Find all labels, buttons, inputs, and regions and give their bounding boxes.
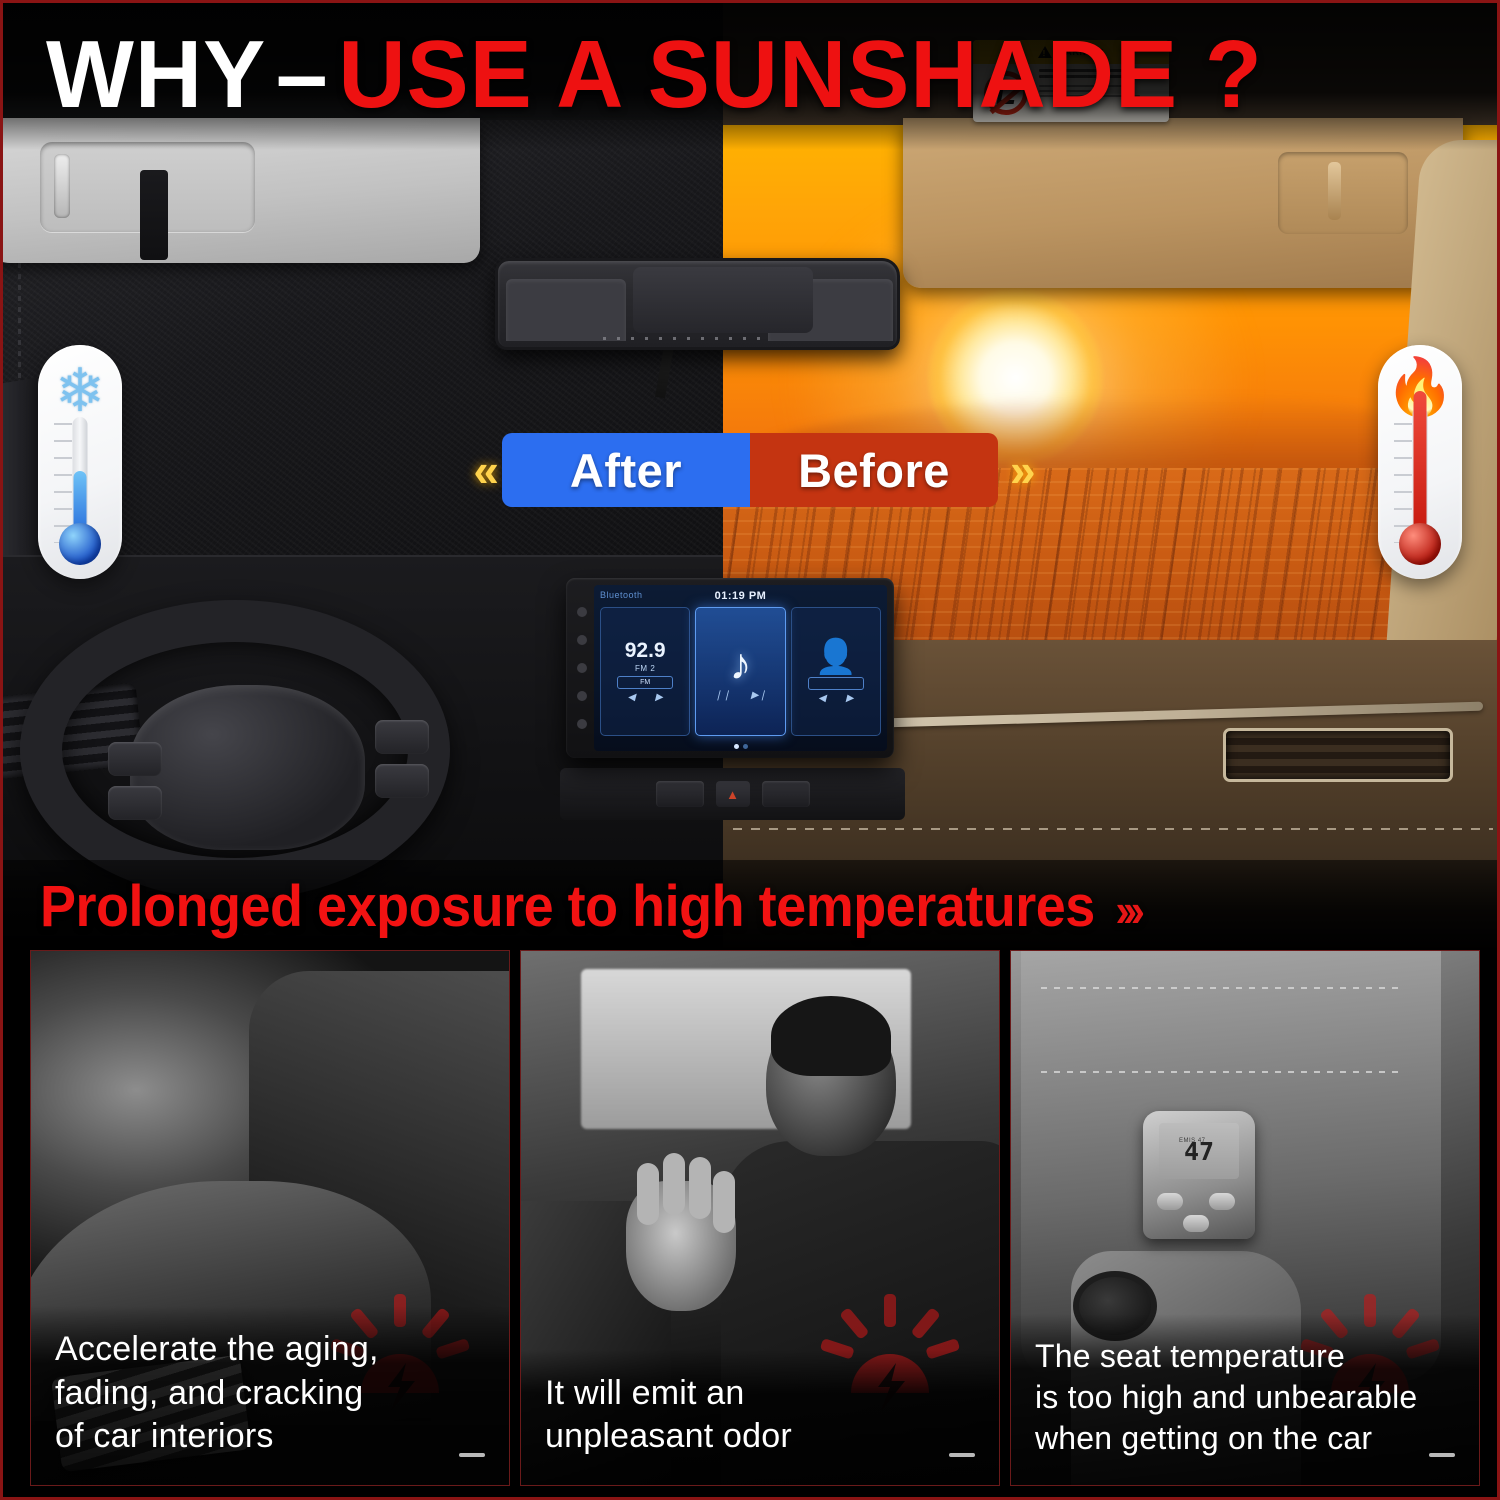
radio-frequency: 92.9 — [625, 640, 666, 661]
section-banner-text: Prolonged exposure to high temperatures›… — [40, 873, 1139, 940]
thermometer-bulb-cold — [59, 523, 101, 565]
product-infographic: WARNING — [0, 0, 1500, 1500]
media-tile[interactable]: ♪ ❘❘ ▶❘ — [695, 607, 785, 736]
ir-button-right — [1209, 1193, 1235, 1210]
center-console-buttons[interactable]: ▲ — [560, 768, 905, 820]
before-badge[interactable]: Before — [750, 433, 998, 507]
phone-nav-controls[interactable]: ◀ ▶ — [818, 693, 853, 704]
phone-prev-icon[interactable]: ◀ — [818, 693, 826, 704]
steering-button-left — [108, 742, 162, 776]
person-hair-p2 — [771, 996, 891, 1076]
title-highlight: USE A SUNSHADE ? — [338, 21, 1262, 128]
steering-button-right — [375, 720, 429, 754]
media-transport-controls[interactable]: ❘❘ ▶❘ — [714, 690, 767, 701]
title-dash: – — [266, 21, 338, 128]
radio-prev-icon[interactable]: ◀ — [627, 692, 635, 703]
volume-button-icon[interactable] — [577, 719, 587, 729]
finger-3 — [689, 1157, 711, 1219]
snowflake-icon: ❄ — [55, 361, 105, 421]
hero-comparison-image: WARNING — [0, 0, 1500, 950]
air-vent-right — [1223, 728, 1453, 782]
ir-thermometer-gun: EMIS 47 47 — [1143, 1111, 1255, 1239]
mirror-headrest — [633, 267, 813, 333]
section-banner-label: Prolonged exposure to high temperatures — [40, 874, 1095, 939]
banner-chevrons-icon: ››› — [1115, 883, 1138, 937]
section-banner: Prolonged exposure to high temperatures›… — [0, 860, 1500, 950]
head-unit-mount — [140, 170, 168, 260]
music-note-icon: ♪ — [729, 643, 751, 687]
mirror-dot-matrix — [603, 337, 763, 340]
caption-underscore — [1429, 1453, 1455, 1457]
page-indicator-dots[interactable] — [594, 742, 887, 751]
panel-caption: Accelerate the aging, fading, and cracki… — [31, 1306, 509, 1485]
phone-call-chip[interactable] — [808, 677, 864, 690]
steering-button-right-2 — [375, 764, 429, 798]
console-button-left[interactable] — [656, 781, 704, 807]
radio-next-icon[interactable]: ▶ — [655, 692, 663, 703]
after-badge[interactable]: After — [502, 433, 750, 507]
ir-button-left — [1157, 1193, 1183, 1210]
phone-tile[interactable]: 👤 ◀ ▶ — [791, 607, 881, 736]
head-unit-screen[interactable]: Bluetooth 01:19 PM 92.9 FM 2 FM ◀ ▶ ♪ — [594, 585, 887, 751]
media-pause-icon[interactable]: ❘❘ — [714, 690, 731, 701]
panel-seat-temperature: EMIS 47 47 The — [1010, 950, 1480, 1486]
panel-unpleasant-odor: It will emit an unpleasant odor — [520, 950, 1000, 1486]
radio-band: FM 2 — [635, 664, 655, 673]
header-banner: WHY–USE A SUNSHADE ? — [0, 0, 1500, 150]
console-button-right[interactable] — [762, 781, 810, 807]
phone-next-icon[interactable]: ▶ — [846, 693, 854, 704]
menu-button-icon[interactable] — [577, 663, 587, 673]
apps-button-icon[interactable] — [577, 691, 587, 701]
radio-seek-controls[interactable]: ◀ ▶ — [627, 692, 662, 703]
title-word-why: WHY — [46, 21, 266, 128]
contact-person-icon: 👤 — [815, 640, 857, 674]
media-skip-icon[interactable]: ▶❘ — [751, 690, 767, 701]
bluetooth-status-icon: Bluetooth — [600, 590, 643, 600]
panel-caption: It will emit an unpleasant odor — [521, 1350, 999, 1485]
home-button-icon[interactable] — [577, 635, 587, 645]
consequences-panel-row: Accelerate the aging, fading, and cracki… — [0, 950, 1500, 1500]
chevron-right-icon: » — [998, 443, 1039, 497]
caption-underscore — [459, 1453, 485, 1457]
steering-wheel-hub — [130, 685, 365, 850]
head-unit-side-buttons[interactable] — [574, 598, 590, 738]
caption-underscore — [949, 1453, 975, 1457]
seat-stitch-2 — [1041, 1071, 1401, 1073]
rearview-mirror — [495, 258, 900, 350]
panel-aging-fading-cracking: Accelerate the aging, fading, and cracki… — [30, 950, 510, 1486]
infotainment-head-unit[interactable]: Bluetooth 01:19 PM 92.9 FM 2 FM ◀ ▶ ♪ — [566, 578, 894, 758]
finger-1 — [637, 1163, 659, 1225]
radio-preset-chip[interactable]: FM — [617, 676, 673, 689]
finger-2 — [663, 1153, 685, 1215]
chevron-left-icon: « — [461, 443, 502, 497]
head-unit-status-bar: Bluetooth 01:19 PM — [594, 585, 887, 607]
page-title: WHY–USE A SUNSHADE ? — [46, 27, 1263, 123]
hazard-lights-icon[interactable]: ▲ — [716, 781, 750, 807]
seat-stitch-1 — [1041, 987, 1401, 989]
ir-display-labels: EMIS 47 — [1179, 1138, 1206, 1144]
panel-caption: The seat temperature is too high and unb… — [1011, 1314, 1479, 1485]
steering-button-left-2 — [108, 786, 162, 820]
head-unit-clock: 01:19 PM — [715, 590, 767, 602]
power-button-icon[interactable] — [577, 607, 587, 617]
head-unit-tiles: 92.9 FM 2 FM ◀ ▶ ♪ ❘❘ ▶❘ — [594, 607, 887, 742]
radio-tile[interactable]: 92.9 FM 2 FM ◀ ▶ — [600, 607, 690, 736]
ir-button-center — [1183, 1215, 1209, 1232]
mirror-rear-seat-left — [506, 279, 626, 341]
thermometer-bulb-hot — [1399, 523, 1441, 565]
ir-thermometer-display: EMIS 47 47 — [1159, 1123, 1239, 1179]
finger-4 — [713, 1171, 735, 1233]
visor-mirror-right — [1278, 152, 1408, 234]
before-after-toggle: « After Before » — [0, 432, 1500, 508]
dashboard-stitching — [733, 828, 1493, 830]
